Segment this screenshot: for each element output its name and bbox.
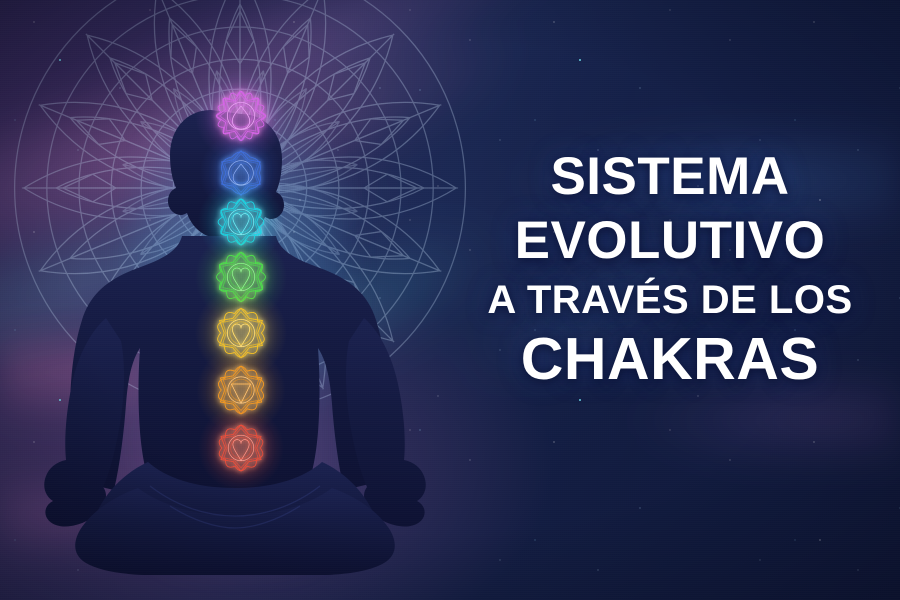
title-line-3: A TRAVÉS DE LOS	[455, 280, 885, 320]
chakra-muladhara	[183, 390, 299, 506]
poster-title: SISTEMA EVOLUTIVO A TRAVÉS DE LOS CHAKRA…	[455, 150, 885, 389]
title-line-2: EVOLUTIVO	[455, 214, 885, 267]
title-line-1: SISTEMA	[455, 150, 885, 203]
poster-canvas: SISTEMA EVOLUTIVO A TRAVÉS DE LOS CHAKRA…	[0, 0, 900, 600]
title-line-4: CHAKRAS	[455, 330, 885, 389]
